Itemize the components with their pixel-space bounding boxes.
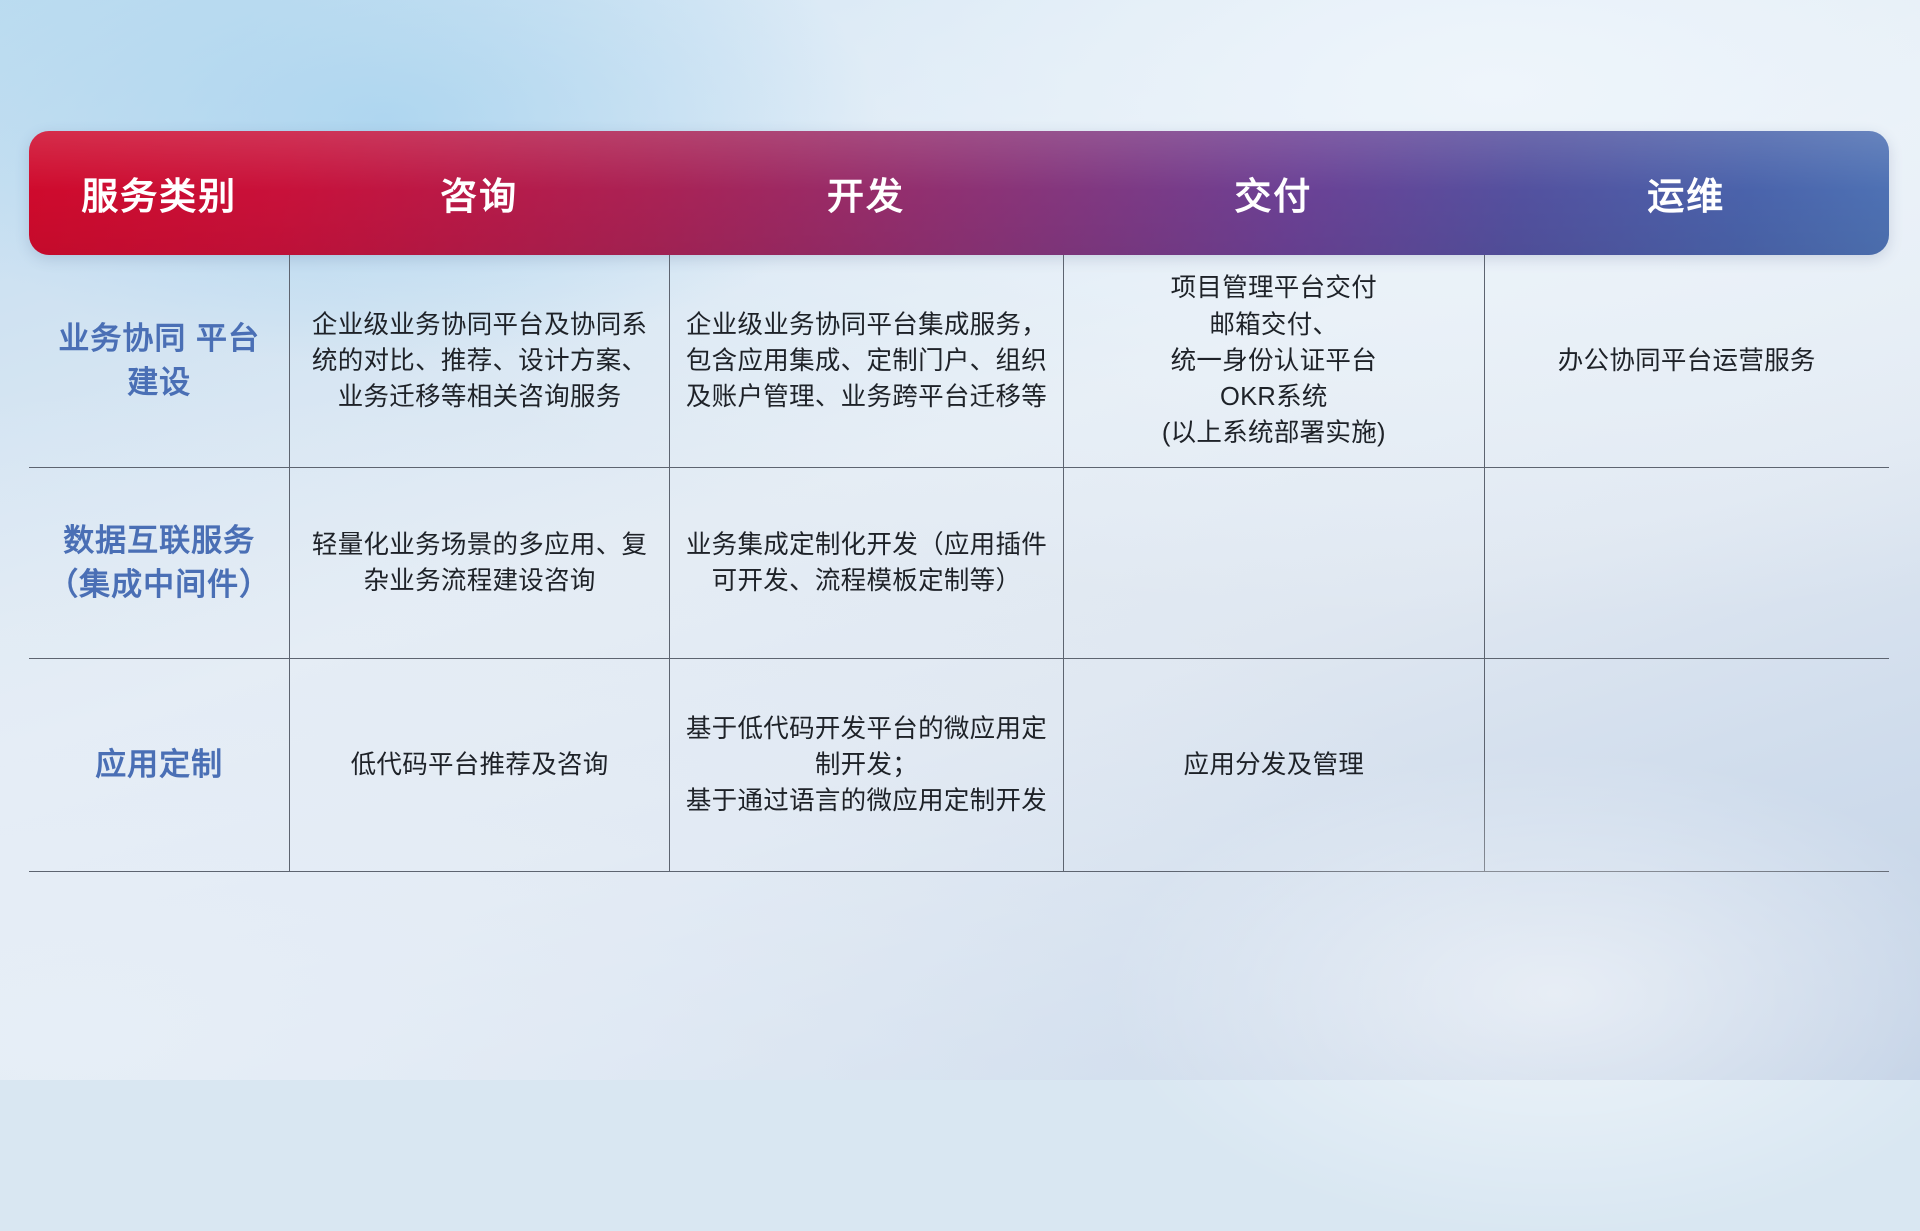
cell-text: 办公协同平台运营服务: [1558, 343, 1816, 379]
cell-text: 业务集成定制化开发（应用插件 可开发、流程模板定制等）: [686, 527, 1047, 599]
cell-text: 低代码平台推荐及咨询: [351, 747, 609, 783]
column-header-consulting: 咨询: [289, 166, 668, 220]
category-label: 数据互联服务 （集成中间件）: [43, 519, 275, 607]
table-row: 业务协同 平台建设 企业级业务协同平台及协同系 统的对比、推荐、设计方案、 业务…: [29, 255, 1889, 467]
table-row: 应用定制 低代码平台推荐及咨询 基于低代码开发平台的微应用定 制开发； 基于通过…: [29, 658, 1889, 872]
cell-text: 基于低代码开发平台的微应用定 制开发； 基于通过语言的微应用定制开发: [686, 711, 1047, 820]
cell-category: 业务协同 平台建设: [29, 255, 289, 467]
table-row: 数据互联服务 （集成中间件） 轻量化业务场景的多应用、复 杂业务流程建设咨询 业…: [29, 467, 1889, 658]
cell-delivery: 项目管理平台交付 邮箱交付、 统一身份认证平台 OKR系统 (以上系统部署实施): [1063, 255, 1483, 467]
cell-consulting: 低代码平台推荐及咨询: [289, 659, 668, 871]
cell-operations: [1484, 659, 1889, 871]
cell-operations: 办公协同平台运营服务: [1484, 255, 1889, 467]
cell-category: 数据互联服务 （集成中间件）: [29, 468, 289, 658]
cell-consulting: 企业级业务协同平台及协同系 统的对比、推荐、设计方案、 业务迁移等相关咨询服务: [289, 255, 668, 467]
category-label: 应用定制: [95, 743, 223, 787]
cell-development: 业务集成定制化开发（应用插件 可开发、流程模板定制等）: [669, 468, 1063, 658]
cell-consulting: 轻量化业务场景的多应用、复 杂业务流程建设咨询: [289, 468, 668, 658]
cell-text: 项目管理平台交付 邮箱交付、 统一身份认证平台 OKR系统 (以上系统部署实施): [1162, 270, 1386, 451]
cell-category: 应用定制: [29, 659, 289, 871]
column-header-development: 开发: [669, 166, 1063, 220]
cell-text: 轻量化业务场景的多应用、复 杂业务流程建设咨询: [312, 527, 647, 599]
cell-development: 企业级业务协同平台集成服务， 包含应用集成、定制门户、组织 及账户管理、业务跨平…: [669, 255, 1063, 467]
category-label: 业务协同 平台建设: [43, 317, 275, 405]
cell-text: 企业级业务协同平台及协同系 统的对比、推荐、设计方案、 业务迁移等相关咨询服务: [312, 307, 647, 416]
table-body: 业务协同 平台建设 企业级业务协同平台及协同系 统的对比、推荐、设计方案、 业务…: [29, 255, 1889, 872]
column-header-category: 服务类别: [29, 166, 289, 220]
service-matrix-table: 服务类别 咨询 开发 交付 运维 业务协同 平台建设 企业级业务协同平台及协同系…: [29, 131, 1889, 951]
column-header-operations: 运维: [1484, 166, 1889, 220]
cell-text: 应用分发及管理: [1184, 747, 1365, 783]
cell-delivery: 应用分发及管理: [1063, 659, 1483, 871]
table-header-row: 服务类别 咨询 开发 交付 运维: [29, 131, 1889, 255]
slide-canvas: 服务类别 咨询 开发 交付 运维 业务协同 平台建设 企业级业务协同平台及协同系…: [0, 0, 1920, 1080]
cell-delivery: [1063, 468, 1483, 658]
cell-development: 基于低代码开发平台的微应用定 制开发； 基于通过语言的微应用定制开发: [669, 659, 1063, 871]
column-header-delivery: 交付: [1063, 166, 1483, 220]
cell-text: 企业级业务协同平台集成服务， 包含应用集成、定制门户、组织 及账户管理、业务跨平…: [686, 307, 1047, 416]
cell-operations: [1484, 468, 1889, 658]
